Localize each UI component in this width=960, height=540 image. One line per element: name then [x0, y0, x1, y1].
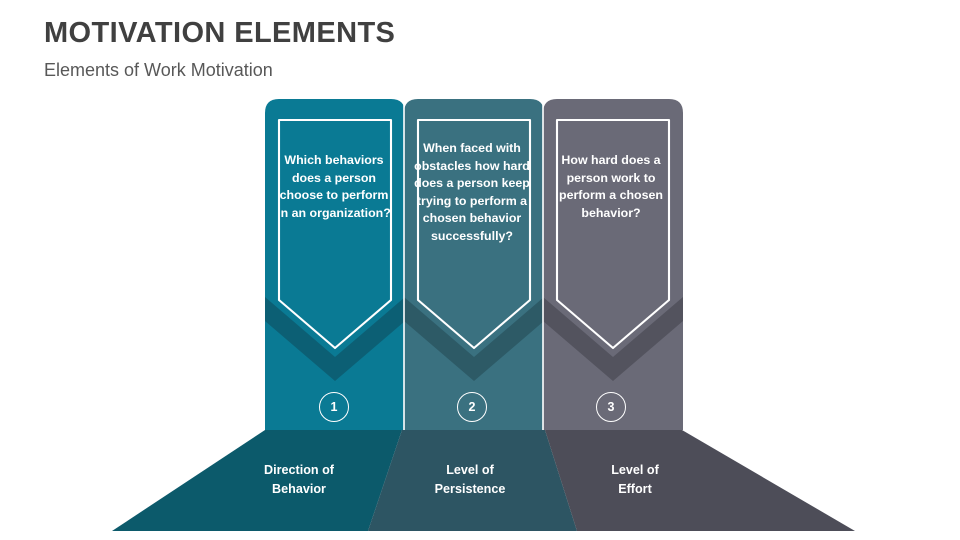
pillar-3-group[interactable] — [543, 99, 683, 430]
floor-label-1: Direction of Behavior — [224, 461, 374, 499]
floor-label-2: Level of Persistence — [395, 461, 545, 499]
pillar-3-number-badge[interactable]: 3 — [596, 392, 626, 422]
pillar-1-group[interactable] — [265, 99, 405, 430]
floor-label-2-line1: Level of — [395, 461, 545, 480]
stage-svg — [0, 0, 960, 540]
pillar-2-question: When faced with obstacles how hard does … — [413, 140, 531, 246]
pillar-1-number-badge[interactable]: 1 — [319, 392, 349, 422]
pillar-3-question: How hard does a person work to perform a… — [552, 152, 670, 222]
floor-label-3-line2: Effort — [560, 480, 710, 499]
floor-label-1-line2: Behavior — [224, 480, 374, 499]
floor-label-1-line1: Direction of — [224, 461, 374, 480]
slide-canvas: MOTIVATION ELEMENTS Elements of Work Mot… — [0, 0, 960, 540]
floor-label-3: Level of Effort — [560, 461, 710, 499]
pillar-2-number-badge[interactable]: 2 — [457, 392, 487, 422]
pillar-seam-1 — [403, 99, 405, 430]
pillar-seam-2 — [542, 99, 544, 430]
floor-label-3-line1: Level of — [560, 461, 710, 480]
floor-label-2-line2: Persistence — [395, 480, 545, 499]
infographic-stage: Which behaviors does a person choose to … — [0, 0, 960, 540]
pillar-1-question: Which behaviors does a person choose to … — [275, 152, 393, 222]
